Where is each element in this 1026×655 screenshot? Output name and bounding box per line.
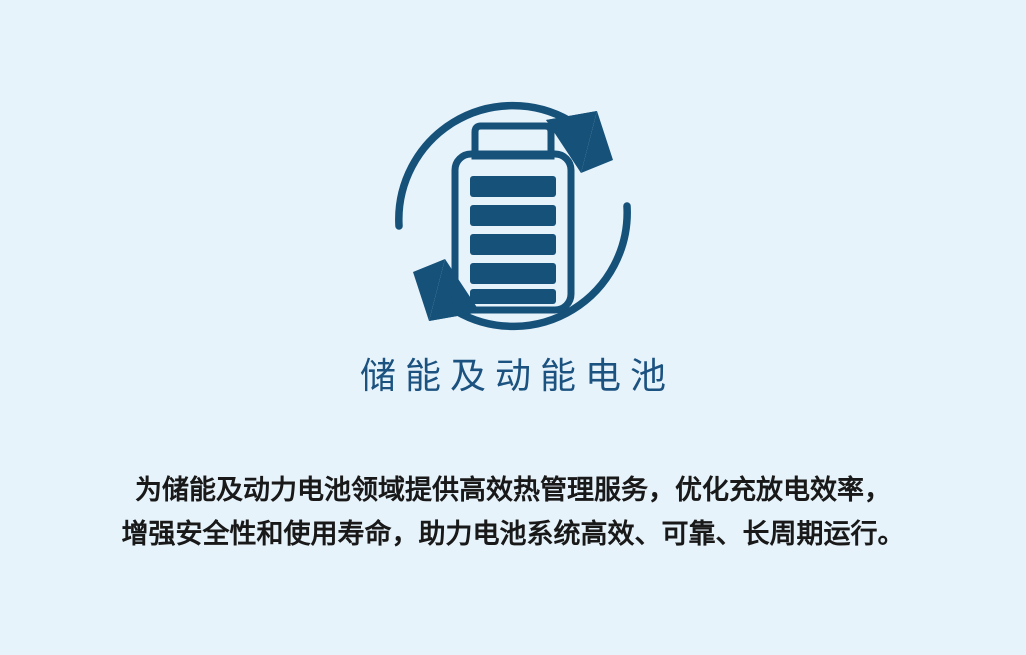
page-title: 储能及动能电池 — [0, 352, 1026, 400]
description-text: 为储能及动力电池领域提供高效热管理服务，优化充放电效率， 增强安全性和使用寿命，… — [0, 468, 1026, 556]
promo-card: 储能及动能电池 为储能及动力电池领域提供高效热管理服务，优化充放电效率， 增强安… — [0, 0, 1026, 655]
battery-recycle-icon — [385, 88, 641, 344]
description-line-1: 为储能及动力电池领域提供高效热管理服务，优化充放电效率， — [0, 468, 1026, 512]
description-line-2: 增强安全性和使用寿命，助力电池系统高效、可靠、长周期运行。 — [0, 512, 1026, 556]
